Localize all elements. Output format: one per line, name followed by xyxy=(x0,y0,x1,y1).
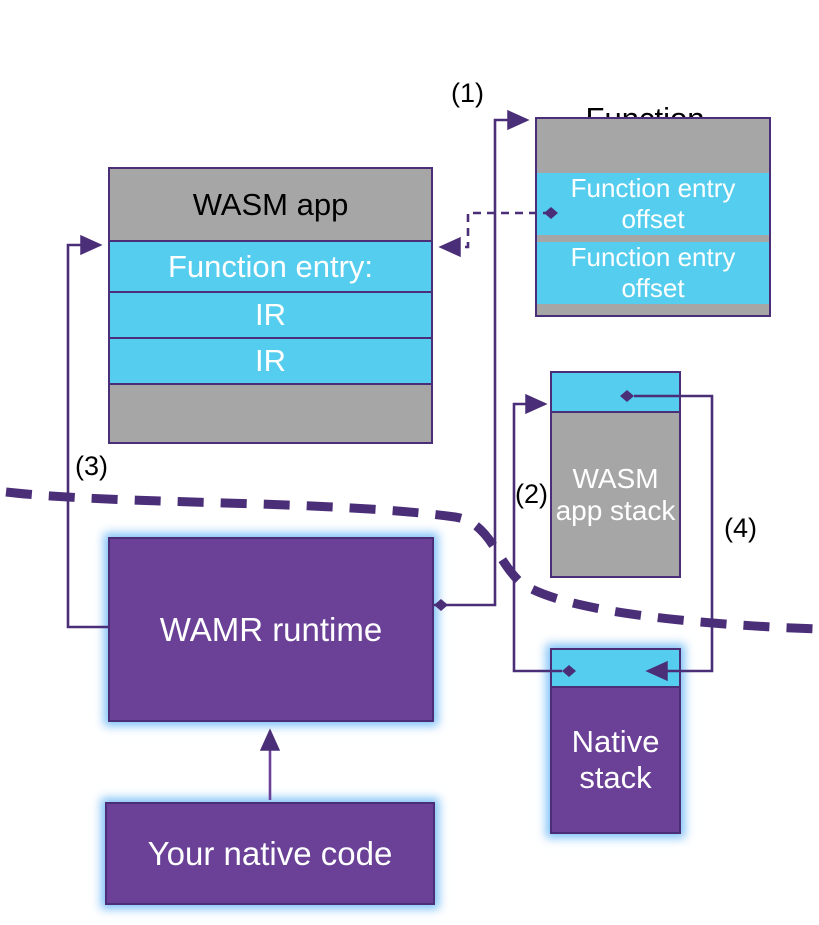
connector-step-4 xyxy=(634,396,712,671)
offset-entry-diamond xyxy=(544,207,558,219)
connector-layer xyxy=(0,0,819,925)
sandbox-boundary-curve xyxy=(6,492,819,629)
diagram-canvas: Function Index Table (1) (2) (3) (4) WAS… xyxy=(0,0,819,925)
wamr-runtime-diamond-1 xyxy=(434,599,448,611)
connector-step-3 xyxy=(68,245,108,627)
wasm-app-stack-diamond xyxy=(620,390,634,402)
connector-step-2 xyxy=(514,404,562,671)
native-stack-diamond xyxy=(562,665,576,677)
